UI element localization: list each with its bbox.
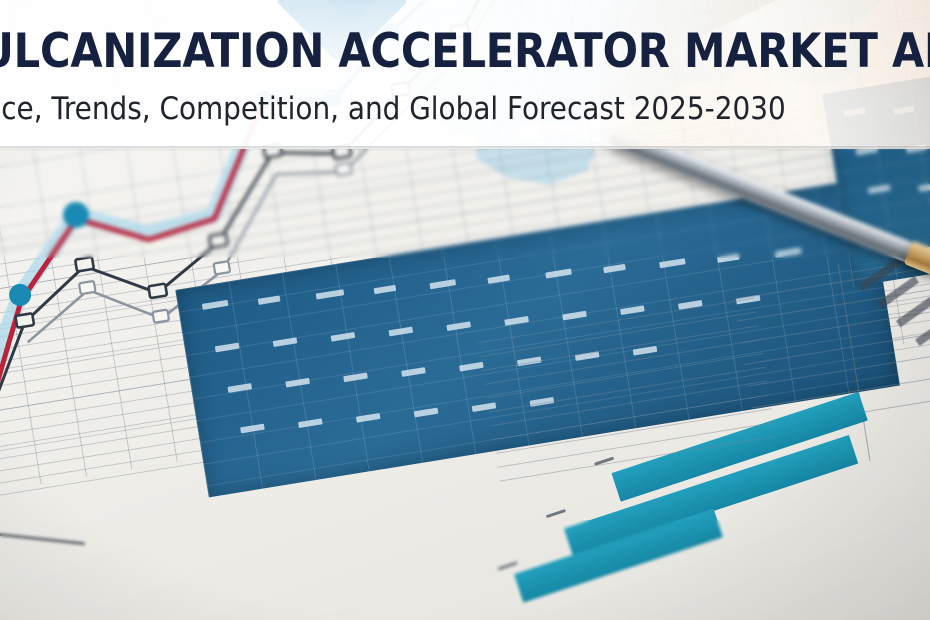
bar-label-4 <box>915 317 930 347</box>
banner-header: ULCANIZATION ACCELERATOR MARKET ANALYSIS… <box>0 0 930 149</box>
depth-of-field-blur-near <box>0 520 930 620</box>
header-drop-shadow <box>0 146 930 151</box>
depth-of-field-blur-far <box>0 148 930 258</box>
report-banner: ULCANIZATION ACCELERATOR MARKET ANALYSIS… <box>0 0 930 620</box>
page-title: ULCANIZATION ACCELERATOR MARKET ANALYSIS <box>0 26 930 78</box>
page-subtitle: rice, Trends, Competition, and Global Fo… <box>0 90 930 128</box>
